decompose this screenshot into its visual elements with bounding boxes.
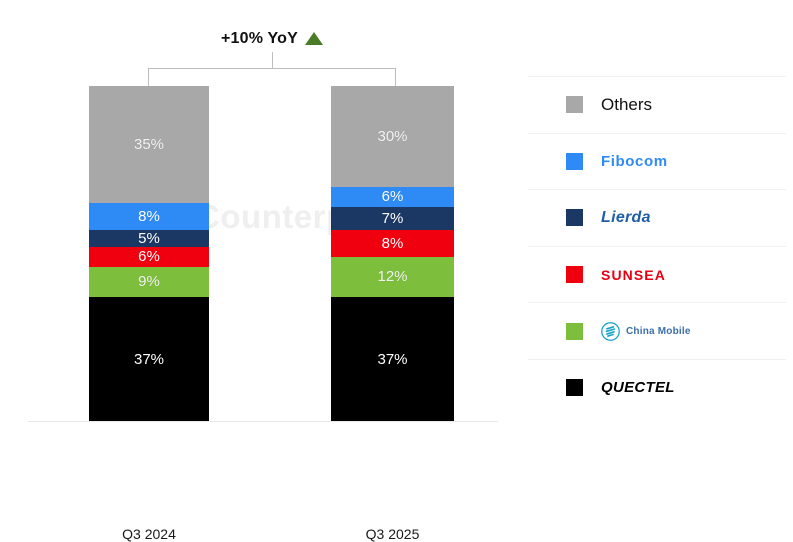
axis-label-q3-2025: Q3 2025 xyxy=(331,526,454,542)
legend-label-wrap: QUECTEL xyxy=(601,379,675,396)
bar-segment-china-mobile: 12% xyxy=(331,257,454,297)
legend-item-quectel[interactable]: QUECTEL xyxy=(528,359,786,416)
segment-value-label: 35% xyxy=(134,137,164,152)
legend-label-wrap: Others xyxy=(601,95,652,115)
legend: OthersFibocomLierdaSUNSEAChina MobileQUE… xyxy=(528,76,786,416)
stacked-bar-chart: Counterp +10% YoY 35%8%5%6%9%37% Q3 2024… xyxy=(0,0,793,465)
bar-group-q3-2025: 30%6%7%8%12%37% Q3 2025 xyxy=(331,86,454,421)
legend-swatch xyxy=(566,266,583,283)
legend-item-lierda[interactable]: Lierda xyxy=(528,189,786,246)
segment-value-label: 37% xyxy=(377,352,407,367)
legend-label: Fibocom xyxy=(601,153,668,170)
legend-swatch xyxy=(566,153,583,170)
bar-segment-china-mobile: 9% xyxy=(89,267,209,297)
segment-value-label: 7% xyxy=(382,211,404,226)
legend-label-wrap: China Mobile xyxy=(601,322,691,341)
bar-segment-sunsea: 8% xyxy=(331,230,454,257)
bar-segment-sunsea: 6% xyxy=(89,247,209,267)
segment-value-label: 5% xyxy=(138,231,160,246)
axis-baseline xyxy=(28,421,498,422)
bar-segment-quectel: 37% xyxy=(89,297,209,421)
legend-label-wrap: Lierda xyxy=(601,209,651,227)
segment-value-label: 30% xyxy=(377,129,407,144)
bar-segment-fibocom: 6% xyxy=(331,187,454,207)
legend-swatch xyxy=(566,379,583,396)
bar-segment-fibocom: 8% xyxy=(89,203,209,230)
yoy-label: +10% YoY xyxy=(221,30,298,48)
segment-value-label: 6% xyxy=(382,189,404,204)
triangle-up-icon xyxy=(305,32,323,45)
segment-value-label: 37% xyxy=(134,352,164,367)
bar-stack: 35%8%5%6%9%37% xyxy=(89,86,209,421)
legend-label: Lierda xyxy=(601,209,651,227)
legend-item-china-mobile[interactable]: China Mobile xyxy=(528,302,786,359)
legend-label: QUECTEL xyxy=(601,379,675,396)
segment-value-label: 8% xyxy=(382,236,404,251)
legend-label: SUNSEA xyxy=(601,267,666,283)
legend-item-sunsea[interactable]: SUNSEA xyxy=(528,246,786,303)
legend-label-wrap: SUNSEA xyxy=(601,267,666,283)
bar-segment-others: 30% xyxy=(331,86,454,187)
bracket-horizontal xyxy=(148,68,396,69)
bracket-leg-left xyxy=(148,68,149,86)
legend-label: China Mobile xyxy=(626,326,691,337)
bar-segment-lierda: 5% xyxy=(89,230,209,247)
segment-value-label: 9% xyxy=(138,274,160,289)
yoy-annotation: +10% YoY xyxy=(148,30,396,48)
bar-stack: 30%6%7%8%12%37% xyxy=(331,86,454,421)
legend-swatch xyxy=(566,209,583,226)
legend-swatch xyxy=(566,323,583,340)
bracket-stem xyxy=(272,52,273,68)
bracket-leg-right xyxy=(395,68,396,86)
segment-value-label: 8% xyxy=(138,209,160,224)
bar-group-q3-2024: 35%8%5%6%9%37% Q3 2024 xyxy=(89,86,209,421)
bar-segment-quectel: 37% xyxy=(331,297,454,421)
segment-value-label: 6% xyxy=(138,249,160,264)
legend-item-fibocom[interactable]: Fibocom xyxy=(528,133,786,190)
legend-label-wrap: Fibocom xyxy=(601,153,668,170)
bar-segment-lierda: 7% xyxy=(331,207,454,230)
segment-value-label: 12% xyxy=(377,269,407,284)
yoy-bracket xyxy=(148,68,396,86)
legend-swatch xyxy=(566,96,583,113)
legend-item-others[interactable]: Others xyxy=(528,76,786,133)
axis-label-q3-2024: Q3 2024 xyxy=(89,526,209,542)
legend-label: Others xyxy=(601,95,652,115)
china-mobile-swirl-icon xyxy=(601,322,620,341)
bar-segment-others: 35% xyxy=(89,86,209,203)
